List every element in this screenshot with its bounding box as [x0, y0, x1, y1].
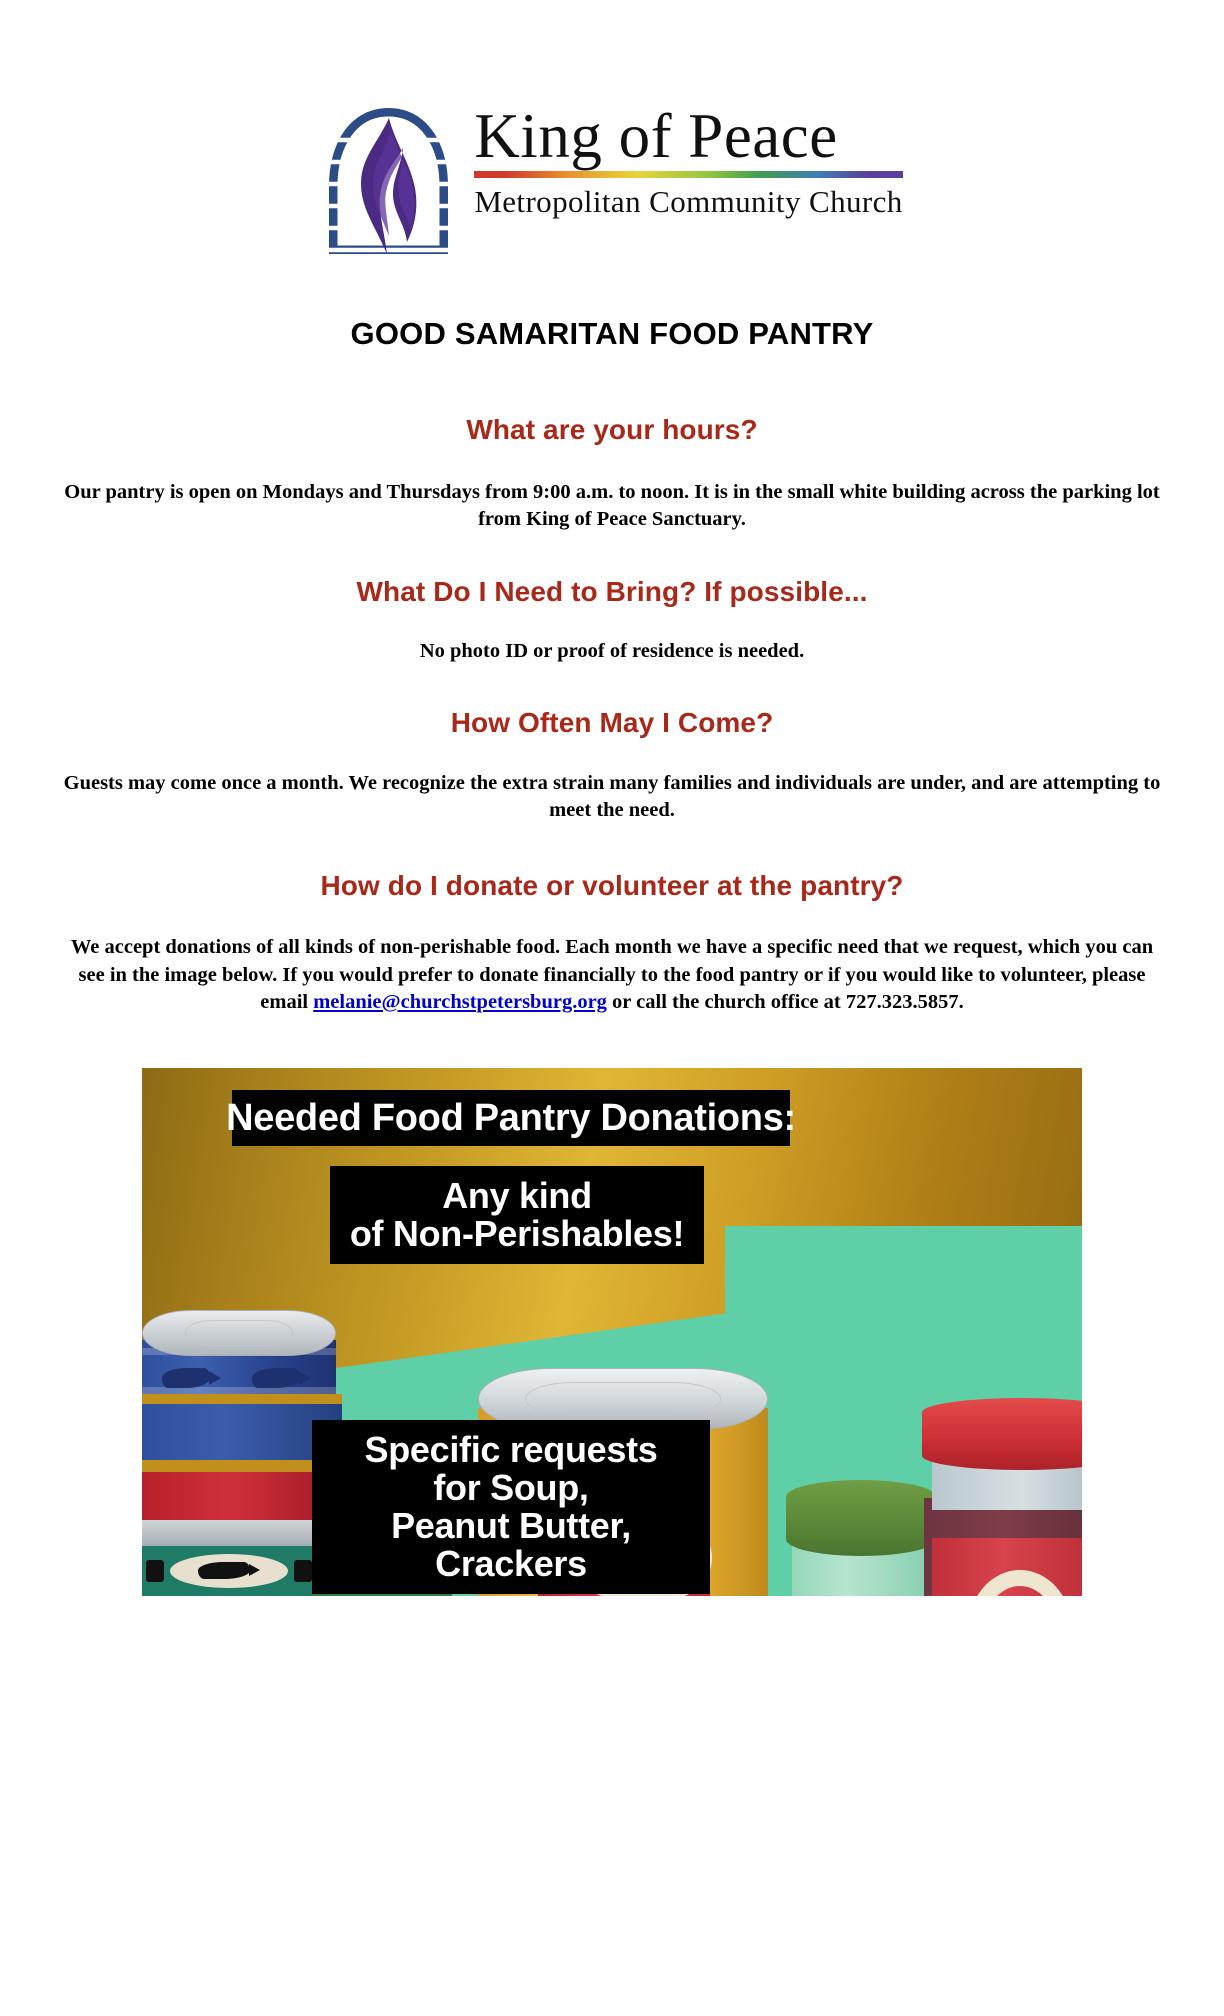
can-lid: [142, 1310, 336, 1356]
poster-caption-any-kind: Any kind of Non-Perishables!: [330, 1166, 704, 1264]
jar-lid-red: [922, 1398, 1082, 1470]
section-body-what-to-bring: No photo ID or proof of residence is nee…: [62, 638, 1162, 665]
email-link-melanie[interactable]: melanie@churchstpetersburg.org: [313, 991, 607, 1013]
caption-line: Any kind: [442, 1177, 592, 1215]
label-block-left: [146, 1560, 164, 1582]
caption-line: Crackers: [435, 1545, 587, 1583]
section-donate-volunteer: How do I donate or volunteer at the pant…: [0, 870, 1224, 1016]
needed-food-pantry-donations-graphic: Needed Food Pantry Donations: Any kind o…: [142, 1068, 1082, 1596]
fish-icon: [198, 1562, 250, 1579]
fish-icon: [252, 1368, 300, 1388]
section-heading-what-to-bring: What Do I Need to Bring? If possible...: [0, 576, 1224, 608]
fish-oval-label: [170, 1554, 288, 1588]
logo-wordmark: King of Peace Metropolitan Community Chu…: [474, 100, 902, 220]
section-heading-how-often: How Often May I Come?: [0, 707, 1224, 739]
peanut-butter-jar-red-cap: [922, 1398, 1082, 1596]
section-hours: What are your hours? Our pantry is open …: [0, 414, 1224, 534]
label-block-right: [294, 1560, 312, 1582]
section-what-to-bring: What Do I Need to Bring? If possible... …: [0, 576, 1224, 665]
fish-icon: [162, 1368, 210, 1388]
section-body-how-often: Guests may come once a month. We recogni…: [62, 770, 1162, 825]
document-page: King of Peace Metropolitan Community Chu…: [0, 0, 1224, 1596]
section-heading-hours: What are your hours?: [0, 414, 1224, 446]
can-lid-ring: [185, 1320, 293, 1346]
caption-line: for Soup,: [433, 1469, 588, 1507]
green-lid-jar: [786, 1480, 936, 1596]
can-lid-ring: [525, 1382, 721, 1416]
caption-line: Needed Food Pantry Donations:: [226, 1098, 796, 1138]
jar-lid-green: [786, 1480, 936, 1556]
caption-line: Specific requests: [364, 1431, 657, 1469]
caption-line: of Non-Perishables!: [350, 1215, 684, 1253]
can-gold-band: [142, 1394, 342, 1404]
logo-subtitle: Metropolitan Community Church: [474, 184, 902, 220]
flame-in-arch-logo-icon: [321, 104, 456, 254]
can-stripe: [142, 1387, 336, 1394]
rainbow-divider-bar: [474, 171, 902, 178]
king-of-peace-logo: King of Peace Metropolitan Community Chu…: [321, 100, 902, 254]
caption-line: Peanut Butter,: [391, 1507, 631, 1545]
logo-header: King of Peace Metropolitan Community Chu…: [0, 0, 1224, 254]
section-body-donate-volunteer: We accept donations of all kinds of non-…: [57, 934, 1167, 1016]
logo-title: King of Peace: [474, 106, 902, 168]
page-title: GOOD SAMARITAN FOOD PANTRY: [0, 316, 1224, 352]
poster-image-container: Needed Food Pantry Donations: Any kind o…: [0, 1068, 1224, 1596]
fish-can-blue-top: [142, 1310, 336, 1406]
section-heading-donate-volunteer: How do I donate or volunteer at the pant…: [0, 870, 1224, 902]
section-body-hours: Our pantry is open on Mondays and Thursd…: [62, 479, 1162, 534]
poster-caption-headline: Needed Food Pantry Donations:: [232, 1090, 790, 1146]
donate-text-after-link: or call the church office at 727.323.585…: [607, 991, 964, 1013]
section-how-often: How Often May I Come? Guests may come on…: [0, 707, 1224, 825]
poster-caption-specific-requests: Specific requests for Soup, Peanut Butte…: [312, 1420, 710, 1594]
